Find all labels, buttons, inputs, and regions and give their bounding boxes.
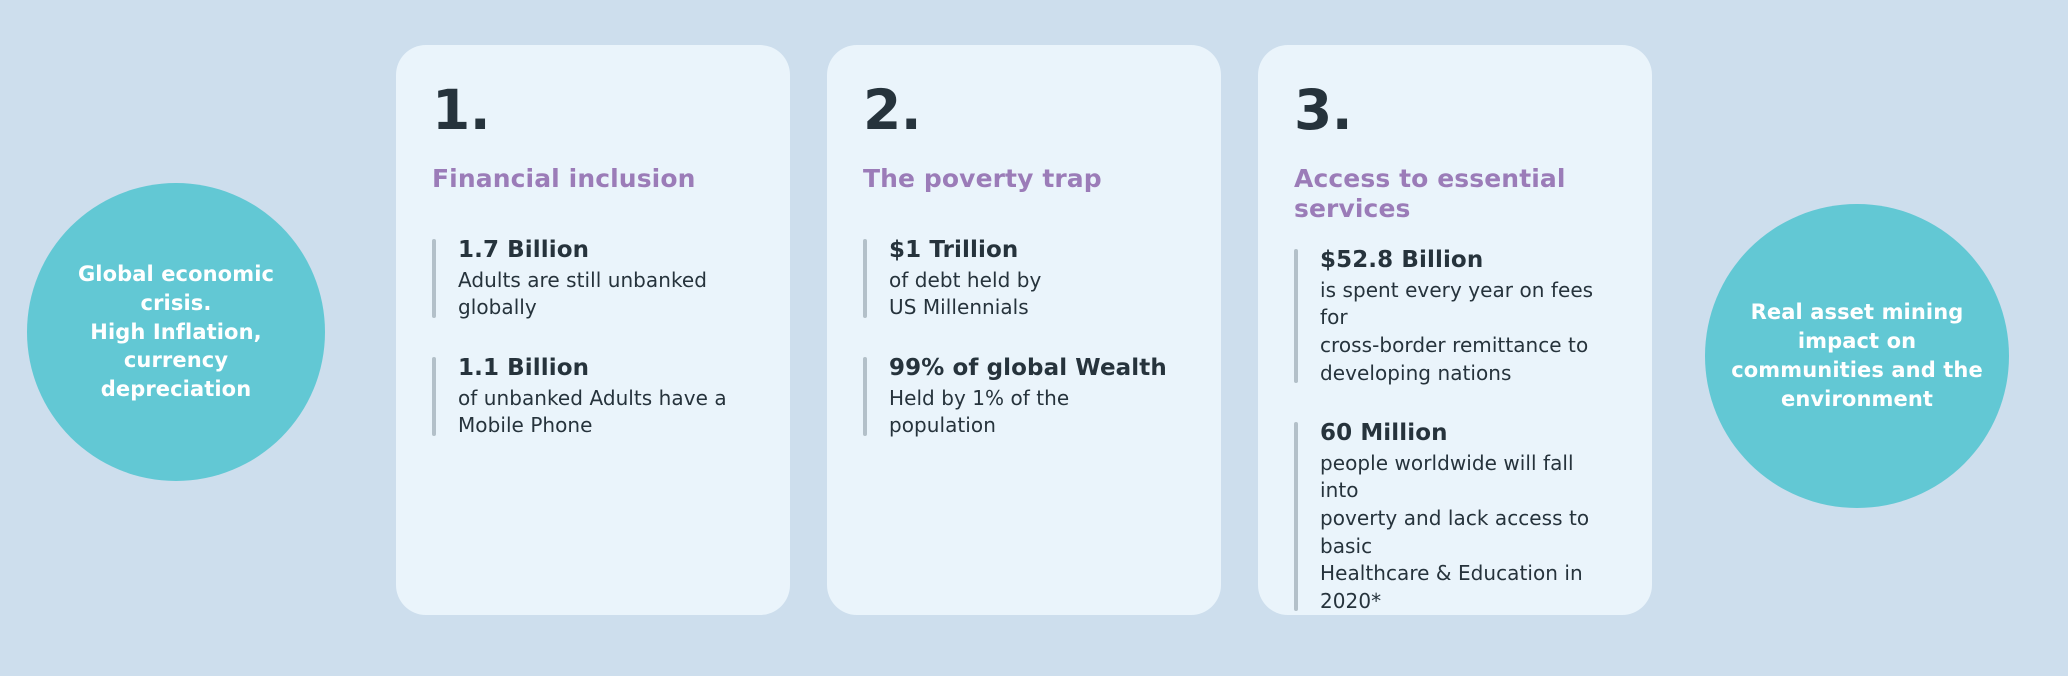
stat-accent-bar [1294,422,1298,611]
card-number: 3. [1294,83,1616,138]
card-title: The poverty trap [863,164,1153,194]
stat-value: $1 Trillion [889,236,1185,265]
stat-description: Held by 1% of the population [889,385,1185,440]
stat-item: $52.8 Billion is spent every year on fee… [1294,246,1616,387]
stat-item: 1.1 Billion of unbanked Adults have a Mo… [432,354,754,440]
stat-description: Adults are still unbanked globally [458,267,754,322]
left-callout-text: Global economic crisis. High Inflation, … [27,260,325,405]
stats-list: $1 Trillion of debt held by US Millennia… [863,236,1185,440]
card-poverty-trap[interactable]: 2. The poverty trap $1 Trillion of debt … [827,45,1221,615]
stat-accent-bar [432,357,436,436]
card-financial-inclusion[interactable]: 1. Financial inclusion 1.7 Billion Adult… [396,45,790,615]
stat-accent-bar [863,239,867,318]
stat-value: 1.1 Billion [458,354,754,383]
stat-item: 99% of global Wealth Held by 1% of the p… [863,354,1185,440]
stat-value: 99% of global Wealth [889,354,1185,383]
card-number: 1. [432,83,754,138]
infographic-canvas: Global economic crisis. High Inflation, … [0,0,2068,676]
card-access-to-essential-services[interactable]: 3. Access to essential services $52.8 Bi… [1258,45,1652,615]
stat-description: is spent every year on fees for cross-bo… [1320,277,1616,387]
card-title: Access to essential services [1294,164,1584,224]
stat-value: 1.7 Billion [458,236,754,265]
right-callout-circle: Real asset mining impact on communities … [1705,204,2009,508]
stat-description: of unbanked Adults have a Mobile Phone [458,385,754,440]
right-callout-text: Real asset mining impact on communities … [1705,298,2009,414]
stat-value: $52.8 Billion [1320,246,1616,275]
stat-description: people worldwide will fall into poverty … [1320,450,1616,616]
card-number: 2. [863,83,1185,138]
cards-row: 1. Financial inclusion 1.7 Billion Adult… [396,45,1652,615]
stats-list: $52.8 Billion is spent every year on fee… [1294,246,1616,615]
stat-accent-bar [432,239,436,318]
stats-list: 1.7 Billion Adults are still unbanked gl… [432,236,754,440]
stat-item: $1 Trillion of debt held by US Millennia… [863,236,1185,322]
stat-item: 60 Million people worldwide will fall in… [1294,419,1616,615]
stat-accent-bar [863,357,867,436]
stat-item: 1.7 Billion Adults are still unbanked gl… [432,236,754,322]
left-callout-circle: Global economic crisis. High Inflation, … [27,183,325,481]
stat-value: 60 Million [1320,419,1616,448]
card-title: Financial inclusion [432,164,722,194]
stat-accent-bar [1294,249,1298,383]
stat-description: of debt held by US Millennials [889,267,1185,322]
